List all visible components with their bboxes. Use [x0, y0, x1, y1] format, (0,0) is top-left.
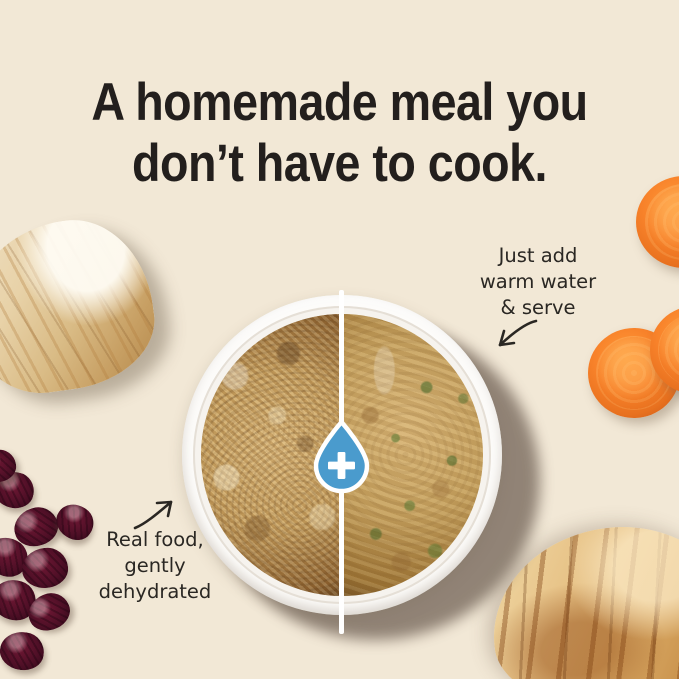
dried-cranberry-icon	[0, 629, 46, 673]
cod-fillet-image	[0, 210, 163, 402]
page-title: A homemade meal you don’t have to cook.	[41, 72, 639, 194]
curved-arrow-up-right-icon	[131, 492, 193, 541]
annotation-right-text: Just add warm water & serve	[452, 243, 624, 321]
promo-image: A homemade meal you don’t have to cook. …	[0, 0, 679, 679]
water-drop-plus-icon	[310, 420, 373, 494]
sweet-potato-slice-image	[636, 176, 679, 268]
curved-arrow-down-left-icon	[478, 316, 540, 365]
